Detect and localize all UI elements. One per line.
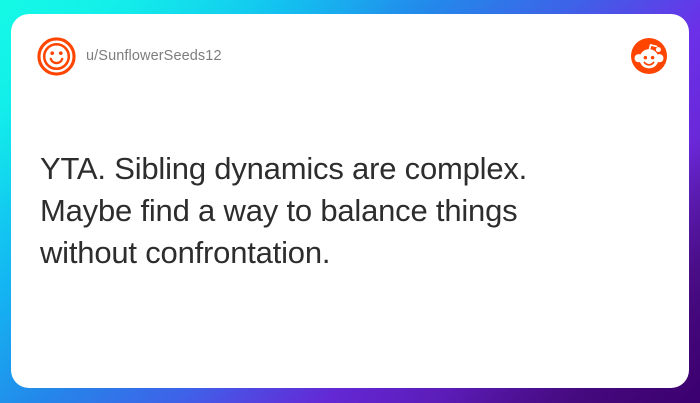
- smiley-face-avatar-icon: [37, 37, 76, 76]
- comment-body-text: YTA. Sibling dynamics are complex. Maybe…: [40, 148, 649, 274]
- card-header: u/SunflowerSeeds12: [11, 14, 689, 92]
- screenshot-root: u/SunflowerSeeds12 YTA. Sibling dynamics…: [0, 0, 700, 403]
- reddit-snoo-logo-icon: [631, 38, 667, 74]
- reddit-comment-card: u/SunflowerSeeds12 YTA. Sibling dynamics…: [11, 14, 689, 388]
- post-username: u/SunflowerSeeds12: [86, 47, 222, 66]
